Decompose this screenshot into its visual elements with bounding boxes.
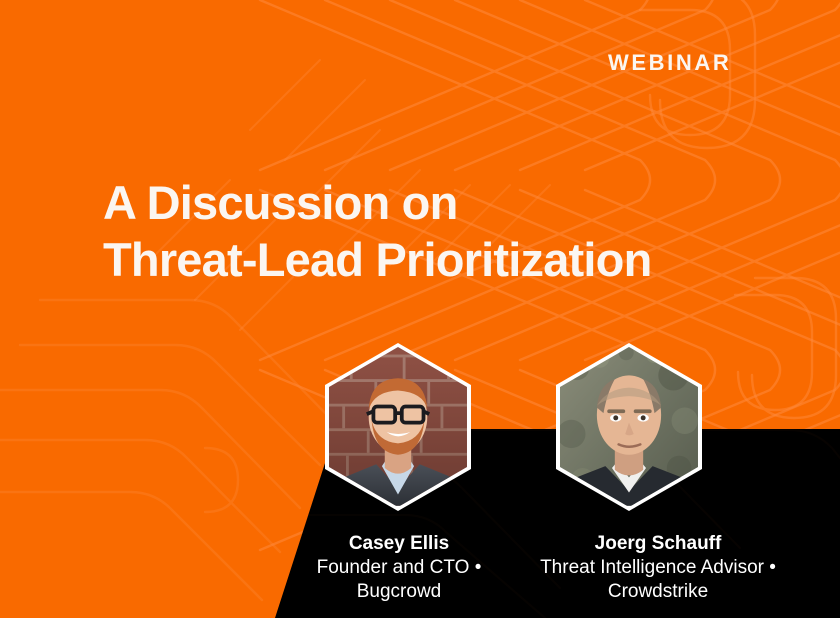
- title-line-2: Threat-Lead Prioritization: [103, 231, 763, 288]
- page-title: A Discussion on Threat-Lead Prioritizati…: [103, 174, 763, 288]
- webinar-promo-card: WEBINAR A Discussion on Threat-Lead Prio…: [0, 0, 840, 618]
- speaker-name: Casey Ellis: [285, 531, 513, 556]
- speaker-caption-casey-ellis: Casey Ellis Founder and CTO • Bugcrowd: [285, 531, 513, 604]
- speaker-caption-joerg-schauff: Joerg Schauff Threat Intelligence Adviso…: [529, 531, 787, 604]
- title-line-1: A Discussion on: [103, 174, 763, 231]
- black-angled-band: [0, 0, 840, 618]
- avatar-casey-ellis: [325, 343, 471, 511]
- speaker-role: Founder and CTO • Bugcrowd: [285, 556, 513, 604]
- speaker-name: Joerg Schauff: [529, 531, 787, 556]
- avatar-joerg-schauff: [556, 343, 702, 511]
- band-chevron-pattern: [0, 0, 840, 618]
- webinar-eyebrow-label: WEBINAR: [608, 52, 731, 74]
- speaker-role: Threat Intelligence Advisor • Crowdstrik…: [529, 556, 787, 604]
